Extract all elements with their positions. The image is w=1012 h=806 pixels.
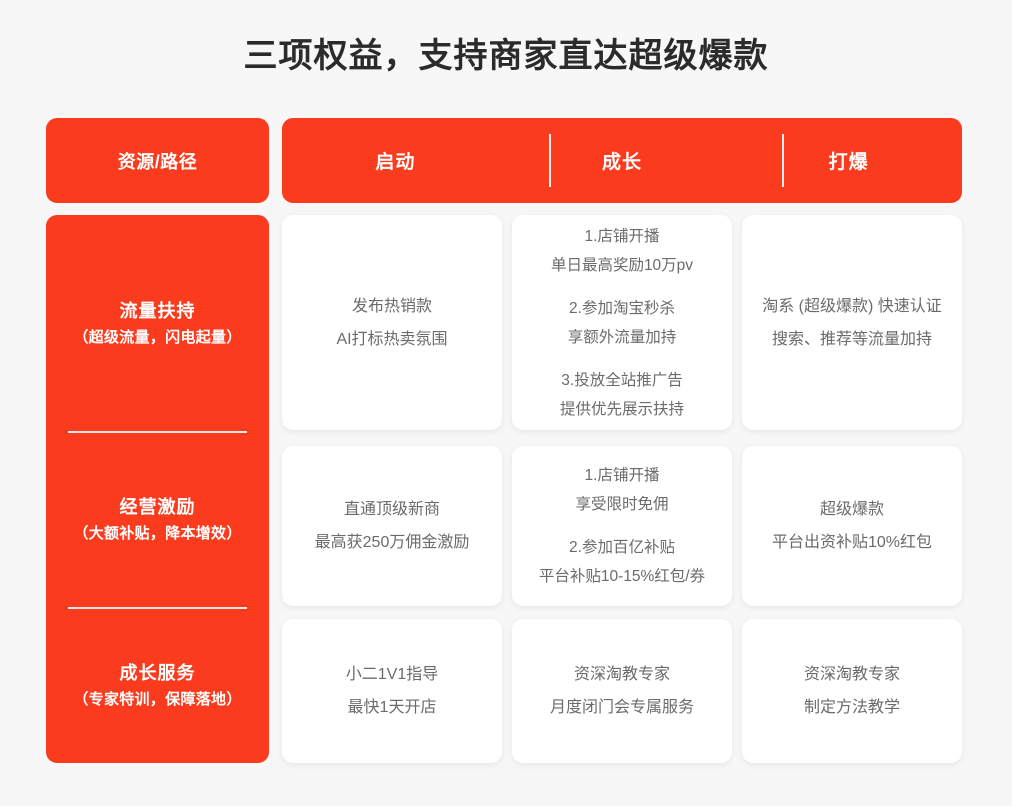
header-stage-breakout: 打爆 bbox=[735, 118, 962, 203]
header-stage-label: 打爆 bbox=[829, 147, 869, 174]
benefits-matrix-page: 三项权益，支持商家直达超级爆款 资源/路径 启动 成长 打爆 bbox=[0, 0, 1012, 806]
matrix-cell: 淘系 (超级爆款) 快速认证 搜索、推荐等流量加持 bbox=[742, 215, 962, 430]
matrix-cell: 资深淘教专家 制定方法教学 bbox=[742, 619, 962, 763]
resource-section-subtitle: （专家特训，保障落地） bbox=[73, 687, 241, 713]
header-stage-growth: 成长 bbox=[509, 118, 736, 203]
cell-line: 平台出资补贴10%红包 bbox=[772, 526, 932, 559]
matrix-cell: 发布热销款 AI打标热卖氛围 bbox=[282, 215, 502, 430]
cell-line: 最高获250万佣金激励 bbox=[315, 526, 470, 559]
matrix-cell: 超级爆款 平台出资补贴10%红包 bbox=[742, 446, 962, 606]
resource-section-subtitle: （超级流量，闪电起量） bbox=[73, 325, 241, 351]
cell-line: 2.参加淘宝秒杀 bbox=[569, 294, 675, 323]
cell-line: 资深淘教专家 bbox=[804, 658, 900, 691]
matrix-header-row: 资源/路径 启动 成长 打爆 bbox=[46, 118, 962, 203]
page-title: 三项权益，支持商家直达超级爆款 bbox=[0, 32, 1012, 80]
header-corner-label: 资源/路径 bbox=[118, 148, 198, 174]
cell-line: AI打标热卖氛围 bbox=[336, 323, 447, 356]
cell-line: 月度闭门会专属服务 bbox=[550, 691, 694, 724]
cell-line: 1.店铺开播 bbox=[585, 222, 660, 251]
cell-line: 提供优先展示扶持 bbox=[560, 395, 684, 424]
header-corner-cell: 资源/路径 bbox=[46, 118, 269, 203]
cell-line: 制定方法教学 bbox=[804, 691, 900, 724]
header-stage-label: 启动 bbox=[375, 147, 415, 174]
cell-line: 2.参加百亿补贴 bbox=[569, 533, 675, 562]
matrix-cell: 直通顶级新商 最高获250万佣金激励 bbox=[282, 446, 502, 606]
cell-line: 单日最高奖励10万pv bbox=[551, 251, 693, 280]
header-stages: 启动 成长 打爆 bbox=[282, 118, 962, 203]
cell-line: 直通顶级新商 bbox=[344, 493, 440, 526]
cell-line: 超级爆款 bbox=[820, 493, 884, 526]
resource-section-service: 成长服务 （专家特训，保障落地） bbox=[46, 608, 269, 763]
matrix-cell: 小二1V1指导 最快1天开店 bbox=[282, 619, 502, 763]
resource-section-traffic: 流量扶持 （超级流量，闪电起量） bbox=[46, 215, 269, 432]
matrix-cell: 1.店铺开播 享受限时免佣 2.参加百亿补贴 平台补贴10-15%红包/券 bbox=[512, 446, 732, 606]
matrix-cell: 1.店铺开播 单日最高奖励10万pv 2.参加淘宝秒杀 享额外流量加持 3.投放… bbox=[512, 215, 732, 430]
matrix-cell: 资深淘教专家 月度闭门会专属服务 bbox=[512, 619, 732, 763]
cell-line: 最快1天开店 bbox=[348, 691, 437, 724]
resource-section-title: 流量扶持 bbox=[120, 297, 196, 325]
cell-line: 小二1V1指导 bbox=[346, 658, 438, 691]
header-stage-startup: 启动 bbox=[282, 118, 509, 203]
resource-column: 流量扶持 （超级流量，闪电起量） 经营激励 （大额补贴，降本增效） 成长服务 （… bbox=[46, 215, 269, 763]
cell-line: 1.店铺开播 bbox=[585, 461, 660, 490]
resource-section-subtitle: （大额补贴，降本增效） bbox=[73, 521, 241, 547]
matrix-cards: 发布热销款 AI打标热卖氛围 1.店铺开播 单日最高奖励10万pv 2.参加淘宝… bbox=[282, 215, 962, 763]
cell-line: 享受限时免佣 bbox=[575, 490, 668, 519]
header-divider-2 bbox=[782, 134, 784, 187]
cell-line: 淘系 (超级爆款) 快速认证 bbox=[762, 290, 942, 323]
cell-line: 发布热销款 bbox=[352, 290, 432, 323]
resource-section-title: 经营激励 bbox=[120, 493, 196, 521]
benefits-matrix: 资源/路径 启动 成长 打爆 流量扶持 （超级流量，闪电起量） bbox=[46, 118, 962, 763]
cell-line: 搜索、推荐等流量加持 bbox=[772, 323, 932, 356]
header-stage-label: 成长 bbox=[602, 147, 642, 174]
cell-line: 资深淘教专家 bbox=[574, 658, 670, 691]
cell-line: 享额外流量加持 bbox=[568, 323, 677, 352]
cell-line: 平台补贴10-15%红包/券 bbox=[539, 562, 705, 591]
resource-section-title: 成长服务 bbox=[120, 659, 196, 687]
resource-section-incentive: 经营激励 （大额补贴，降本增效） bbox=[46, 432, 269, 608]
header-divider-1 bbox=[549, 134, 551, 187]
cell-line: 3.投放全站推广告 bbox=[561, 366, 682, 395]
